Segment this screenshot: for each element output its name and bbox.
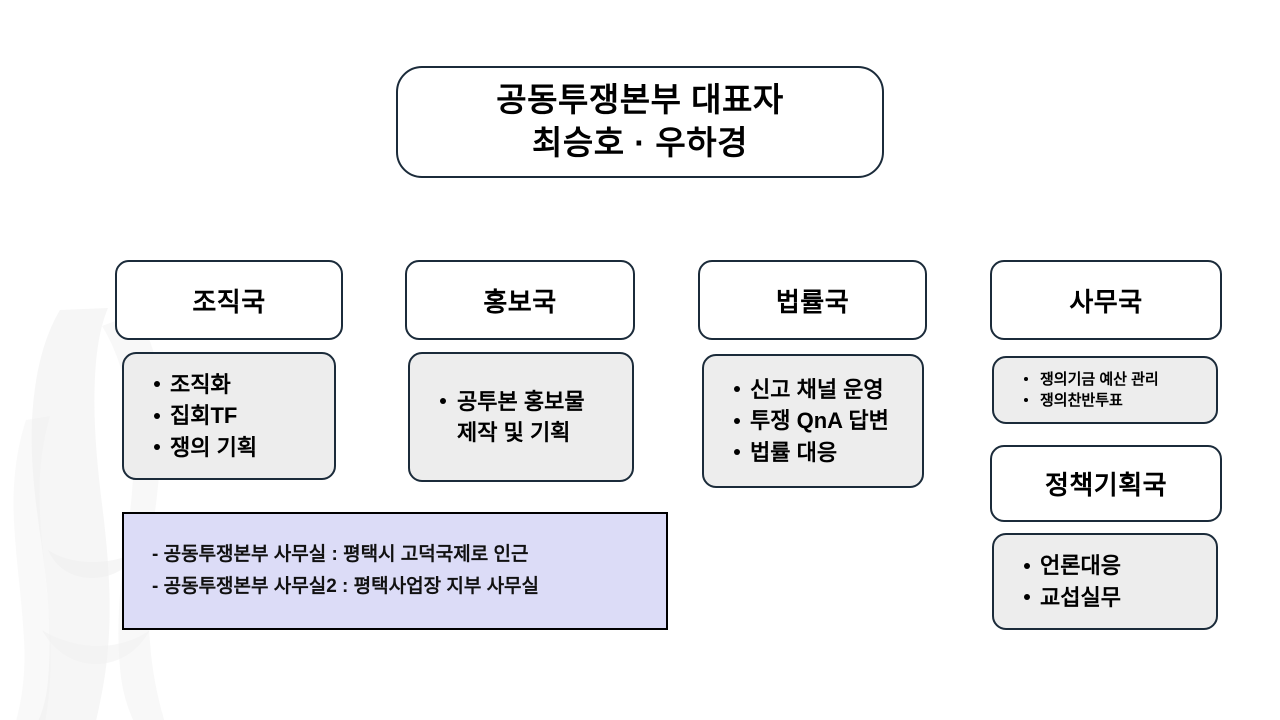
dept-header-label: 사무국 — [1069, 282, 1142, 319]
list-item-line2: 제작 및 기획 — [457, 417, 622, 448]
list-item: 집회TF — [154, 400, 324, 431]
list-item: 신고 채널 운영 — [734, 374, 912, 405]
dept-header-organization[interactable]: 조직국 — [115, 260, 343, 340]
list-item: 법률 대응 — [734, 437, 912, 468]
list-item: 언론대응 — [1024, 550, 1206, 581]
dept-header-label: 홍보국 — [483, 282, 556, 319]
dept-header-publicity[interactable]: 홍보국 — [405, 260, 635, 340]
list-item: 투쟁 QnA 답변 — [734, 405, 912, 436]
task-list: 공투본 홍보물 제작 및 기획 — [410, 386, 632, 448]
dept-header-policy-planning[interactable]: 정책기획국 — [990, 445, 1222, 522]
task-list: 쟁의기금 예산 관리 쟁의찬반투표 — [994, 369, 1216, 411]
task-list: 신고 채널 운영 투쟁 QnA 답변 법률 대응 — [704, 374, 922, 468]
org-title-box: 공동투쟁본부 대표자 최승호 · 우하경 — [396, 66, 884, 178]
dept-header-label: 정책기획국 — [1045, 465, 1167, 502]
office-address-note-box: - 공동투쟁본부 사무실 : 평택시 고덕국제로 인근 - 공동투쟁본부 사무실… — [122, 512, 668, 630]
dept-tasks-organization: 조직화 집회TF 쟁의 기획 — [122, 352, 336, 480]
org-title-text: 공동투쟁본부 대표자 최승호 · 우하경 — [496, 79, 783, 165]
dept-tasks-legal: 신고 채널 운영 투쟁 QnA 답변 법률 대응 — [702, 354, 924, 488]
list-item: 쟁의찬반투표 — [1024, 390, 1206, 411]
org-title-line2: 최승호 · 우하경 — [496, 122, 783, 165]
dept-tasks-administration: 쟁의기금 예산 관리 쟁의찬반투표 — [992, 356, 1218, 424]
task-list: 언론대응 교섭실무 — [994, 550, 1216, 612]
org-title-line1: 공동투쟁본부 대표자 — [496, 79, 783, 122]
dept-header-label: 법률국 — [776, 282, 849, 319]
list-item: 쟁의기금 예산 관리 — [1024, 369, 1206, 390]
dept-tasks-publicity: 공투본 홍보물 제작 및 기획 — [408, 352, 634, 482]
dept-header-label: 조직국 — [192, 282, 265, 319]
org-chart-slide: 공동투쟁본부 대표자 최승호 · 우하경 조직국 조직화 집회TF 쟁의 기획 … — [0, 0, 1280, 720]
office-address-line1: - 공동투쟁본부 사무실 : 평택시 고덕국제로 인근 — [152, 539, 666, 571]
dept-header-legal[interactable]: 법률국 — [698, 260, 927, 340]
list-item: 쟁의 기획 — [154, 432, 324, 463]
office-address-line2: - 공동투쟁본부 사무실2 : 평택사업장 지부 사무실 — [152, 571, 666, 603]
list-item-line1: 공투본 홍보물 — [457, 389, 585, 414]
dept-header-administration[interactable]: 사무국 — [990, 260, 1222, 340]
list-item: 공투본 홍보물 제작 및 기획 — [440, 386, 622, 448]
list-item: 교섭실무 — [1024, 582, 1206, 613]
dept-tasks-policy-planning: 언론대응 교섭실무 — [992, 533, 1218, 630]
list-item: 조직화 — [154, 369, 324, 400]
task-list: 조직화 집회TF 쟁의 기획 — [124, 369, 334, 463]
